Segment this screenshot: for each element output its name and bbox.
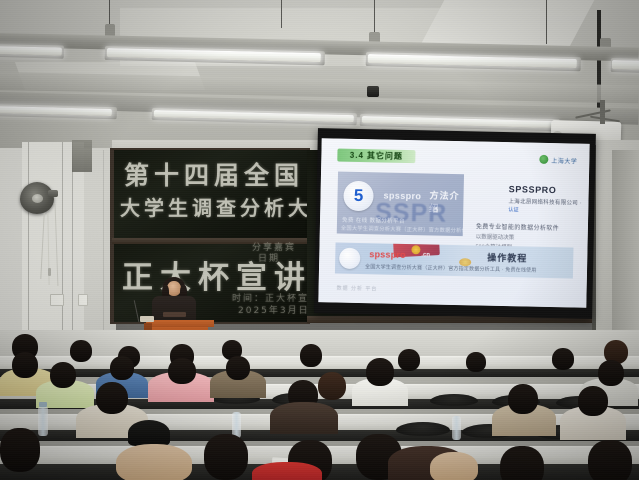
slide-right-line2: 以数据驱动决策 xyxy=(476,232,515,241)
podium-papers xyxy=(140,316,154,322)
audience-shoulders xyxy=(270,402,338,434)
light-switch[interactable] xyxy=(50,294,64,306)
ceiling-speaker-icon xyxy=(367,86,379,97)
podium-top xyxy=(146,320,214,327)
banner-label: 操作教程 xyxy=(487,251,527,265)
fan-hub-icon xyxy=(32,194,43,203)
university-logo-icon xyxy=(539,155,548,164)
seat-back xyxy=(396,422,450,436)
plush-backpack xyxy=(116,444,192,480)
slide-header-title: 其它问题 xyxy=(367,150,403,162)
fan-mount-arm xyxy=(48,190,58,197)
banner-brand-suffix: .cn xyxy=(421,252,430,258)
wall-vent xyxy=(72,140,92,172)
slide-canvas: 3.4 其它问题 上海大学 5 spsspro 方法介绍 SSPR 免费 在线 … xyxy=(318,138,589,308)
slide-caption-1: 免费 在线 数据分析平台 xyxy=(342,216,405,225)
blackboard-note-bottom-2: 2025年3月日 xyxy=(238,303,310,316)
audience-head xyxy=(50,362,76,388)
audience-head xyxy=(12,352,38,378)
audience-head xyxy=(70,340,92,362)
beige-bag xyxy=(430,452,478,480)
slide-right-sub2: 认证 xyxy=(508,206,519,213)
slide-right-line1: 免费专业智能的数据分析软件 xyxy=(476,221,559,232)
audience-head xyxy=(588,440,632,480)
presenter-shirt-print xyxy=(163,312,186,317)
audience-head xyxy=(500,446,544,480)
slide-bottom-banner: spsspro .cn 操作教程 全国大学生调查分析大赛（正大杯）官方指定数据分… xyxy=(335,243,574,279)
audience-head xyxy=(110,356,134,380)
audience-head xyxy=(318,372,346,400)
slide-footer-note: 数据 分析 平台 xyxy=(337,285,378,293)
audience-head xyxy=(204,434,248,480)
ceiling-rod xyxy=(546,0,547,44)
audience-head xyxy=(466,352,486,372)
water-bottle xyxy=(452,416,461,440)
audience-cap xyxy=(128,420,170,446)
lecture-hall-photo: 第十四届全国 大学生调查分析大赛 正大杯宣讲会 分享嘉宾 日期 时间：正大杯宣讲… xyxy=(0,0,639,480)
blackboard-note-right-2: 日期 xyxy=(258,251,280,264)
blackboard-line1: 第十四届全国 xyxy=(124,156,304,192)
audience-head xyxy=(508,384,538,414)
projection-screen: 3.4 其它问题 上海大学 5 spsspro 方法介绍 SSPR 免费 在线 … xyxy=(318,138,589,308)
banner-subtext: 全国大学生调查分析大赛（正大杯）官方指定数据分析工具 · 免费在线使用 xyxy=(365,263,537,274)
slide-header-prefix: 3.4 xyxy=(350,151,364,160)
presenter-head xyxy=(167,281,181,296)
projector-mount xyxy=(600,100,605,124)
audience-head xyxy=(300,344,322,367)
slide-left-card: 5 spsspro 方法介绍 SSPR 免费 在线 数据分析平台 全国大学生调查… xyxy=(337,172,464,237)
desk-front-panel xyxy=(0,369,639,377)
audience-shoulders xyxy=(252,462,322,480)
fluorescent-tube-light xyxy=(612,60,639,70)
banner-brand-text: spsspro xyxy=(369,249,406,260)
audience-head xyxy=(226,356,250,380)
spsspro-logo-icon-banner xyxy=(339,248,360,269)
audience-head xyxy=(96,382,128,414)
light-switch[interactable] xyxy=(78,294,88,306)
bottle-cap-icon xyxy=(39,402,47,407)
audience-head xyxy=(0,428,40,472)
audience-head xyxy=(168,358,196,384)
audience-head xyxy=(578,386,608,416)
slide-header-banner: 3.4 其它问题 xyxy=(337,149,415,164)
audience-head xyxy=(366,358,394,386)
audience-head xyxy=(552,348,574,370)
blackboard-line2: 大学生调查分析大赛 xyxy=(120,192,336,221)
spsspro-logo-icon: 5 xyxy=(343,181,374,212)
slide-caption-2: 全国大学生调查分析大赛（正大杯）官方数据分析伙伴 xyxy=(341,225,464,235)
spsspro-logo-icon-right xyxy=(476,183,500,207)
water-bottle xyxy=(38,406,48,436)
banner-decor-dot xyxy=(459,258,471,266)
seat-back xyxy=(430,394,478,406)
audience-head xyxy=(398,349,420,371)
university-logo-text: 上海大学 xyxy=(551,156,577,166)
ceiling-rod xyxy=(281,0,282,28)
slide-right-title: SPSSPRO xyxy=(509,184,557,195)
fluorescent-tube-light xyxy=(0,46,62,56)
slide-right-subtitle: 上海北昂网络科技有限公司 · xyxy=(508,197,582,207)
cord-weight-icon xyxy=(48,268,51,276)
audience-head xyxy=(598,360,624,386)
